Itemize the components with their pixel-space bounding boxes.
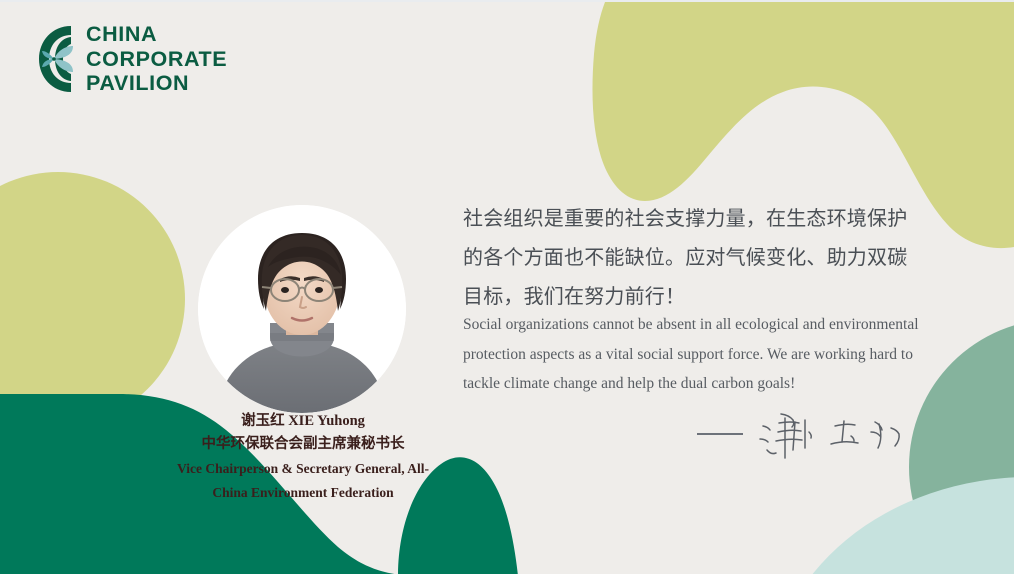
logo-line-corporate: CORPORATE	[86, 47, 227, 72]
speaker-title-chinese: 中华环保联合会副主席兼秘书长	[160, 433, 446, 456]
quote-chinese: 社会组织是重要的社会支撑力量，在生态环境保护的各个方面也不能缺位。应对气候变化、…	[463, 200, 925, 317]
signature-dash	[697, 433, 743, 435]
speaker-portrait	[198, 205, 406, 413]
presentation-slide: CHINA CORPORATE PAVILION	[0, 0, 1014, 574]
logo-line-pavilion: PAVILION	[86, 71, 227, 96]
brand-logo-wordmark: CHINA CORPORATE PAVILION	[86, 22, 227, 97]
quote-english: Social organizations cannot be absent in…	[463, 310, 933, 399]
handwritten-signature-icon	[757, 406, 917, 462]
speaker-portrait-image	[198, 205, 406, 413]
china-corporate-pavilion-emblem-icon	[30, 20, 76, 98]
left-circle-blob-shape	[0, 172, 185, 426]
speaker-title-english-line1: Vice Chairperson & Secretary General, Al…	[160, 457, 446, 481]
speaker-caption: 谢玉红 XIE Yuhong 中华环保联合会副主席兼秘书长 Vice Chair…	[160, 410, 446, 505]
bottom-right-mint-circle-shape	[770, 477, 1014, 574]
logo-line-china: CHINA	[86, 22, 227, 47]
speaker-title-english-line2: China Environment Federation	[160, 481, 446, 505]
speaker-name: 谢玉红 XIE Yuhong	[160, 410, 446, 433]
signature-block	[697, 406, 917, 462]
brand-logo: CHINA CORPORATE PAVILION	[30, 20, 227, 98]
